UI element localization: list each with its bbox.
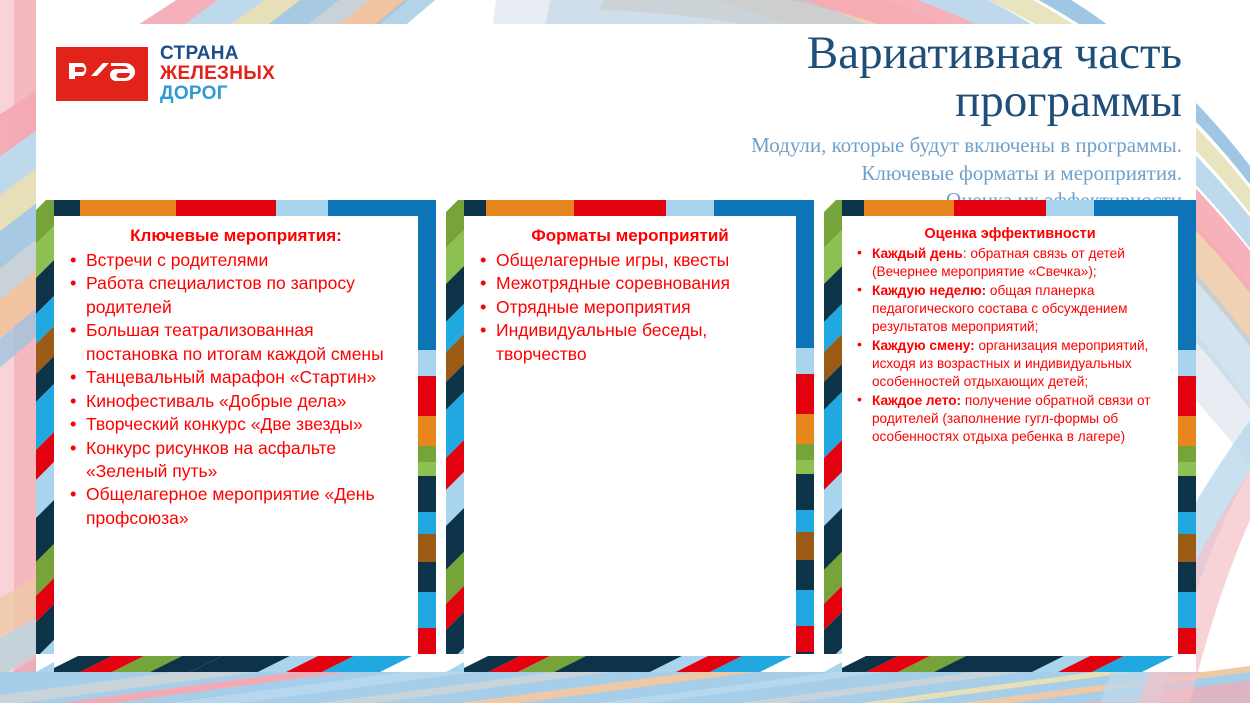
list-item: Общелагерное мероприятие «День профсоюза… — [64, 483, 408, 530]
list-item: Встречи с родителями — [64, 249, 408, 272]
card-title: Оценка эффективности — [852, 226, 1168, 242]
card-content: Оценка эффективности Каждый день: обратн… — [842, 216, 1178, 656]
list-item: Общелагерные игры, квесты — [474, 249, 786, 272]
list-item: Работа специалистов по запросу родителей — [64, 272, 408, 319]
list-item: Каждую неделю: общая планерка педагогиче… — [852, 282, 1168, 337]
list-item: Танцевальный марафон «Стартин» — [64, 366, 408, 389]
list-item: Творческий конкурс «Две звезды» — [64, 413, 408, 436]
list-item: Отрядные мероприятия — [474, 296, 786, 319]
list-item: Каждое лето: получение обратной связи от… — [852, 392, 1168, 447]
slide-canvas: СТРАНА ЖЕЛЕЗНЫХ ДОРОГ Вариативная часть … — [0, 0, 1250, 703]
card-bullet-list: Общелагерные игры, квесты Межотрядные со… — [474, 249, 786, 366]
card-bullet-list: Встречи с родителями Работа специалистов… — [64, 249, 408, 530]
card-effectiveness-evaluation: Оценка эффективности Каждый день: обратн… — [824, 200, 1196, 672]
list-item: Каждый день: обратная связь от детей (Ве… — [852, 245, 1168, 282]
card-title: Ключевые мероприятия: — [64, 226, 408, 246]
card-event-formats: Форматы мероприятий Общелагерные игры, к… — [446, 200, 814, 672]
list-item: Кинофестиваль «Добрые дела» — [64, 390, 408, 413]
list-item: Большая театрализованная постановка по и… — [64, 319, 408, 366]
list-item: Каждую смену: организация мероприятий, и… — [852, 337, 1168, 392]
card-bullet-list: Каждый день: обратная связь от детей (Ве… — [852, 245, 1168, 447]
card-title: Форматы мероприятий — [474, 226, 786, 246]
card-content: Ключевые мероприятия: Встречи с родителя… — [54, 216, 418, 656]
list-item: Конкурс рисунков на асфальте «Зеленый пу… — [64, 437, 408, 484]
list-item: Индивидуальные беседы, творчество — [474, 319, 786, 366]
card-content: Форматы мероприятий Общелагерные игры, к… — [464, 216, 796, 656]
list-item: Межотрядные соревнования — [474, 272, 786, 295]
card-key-events: Ключевые мероприятия: Встречи с родителя… — [36, 200, 436, 672]
cards-container: Ключевые мероприятия: Встречи с родителя… — [0, 0, 1250, 703]
